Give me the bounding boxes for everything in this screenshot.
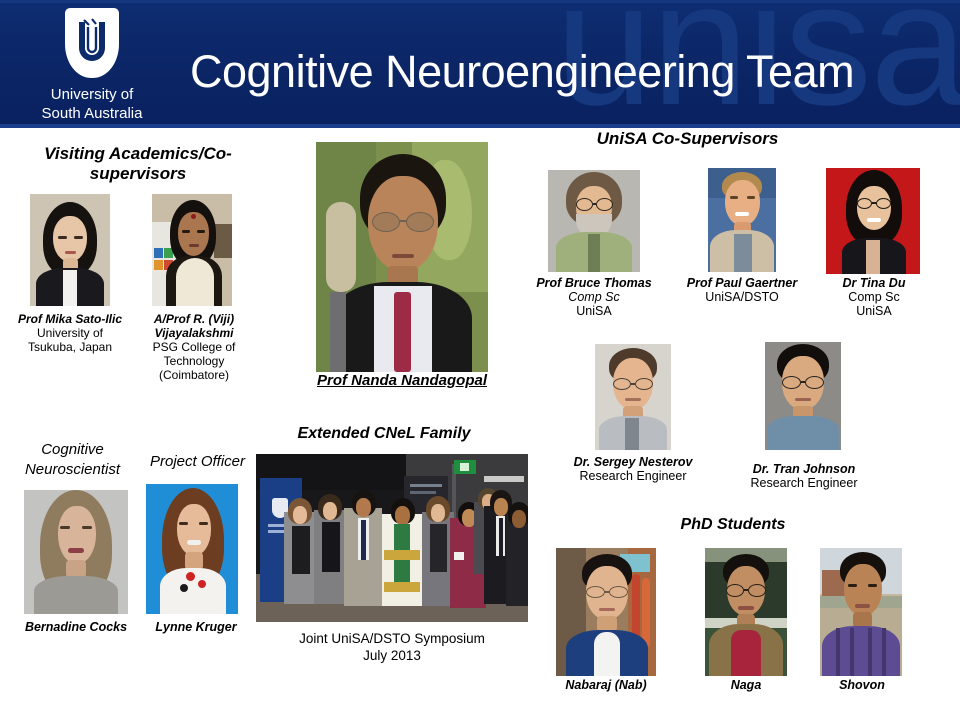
name-bernadine-cocks: Bernadine Cocks <box>10 620 142 634</box>
affil-bruce-line3: UniSA <box>524 304 664 318</box>
photo-bruce-thomas <box>548 170 640 272</box>
caption-bernadine-cocks: Bernadine Cocks <box>10 620 142 634</box>
name-nanda-nandagopal: Prof Nanda Nandagopal <box>300 374 504 388</box>
slide-canvas: unisa University of South Australia Cogn… <box>0 0 960 720</box>
logo-text: University of South Australia <box>26 85 158 123</box>
affil-paul-line2: UniSA/DSTO <box>672 290 812 304</box>
caption-paul-gaertner: Prof Paul Gaertner UniSA/DSTO <box>672 276 812 304</box>
affil-viji-line2: PSG College of <box>134 340 254 354</box>
photo-sergey-nesterov <box>595 344 671 450</box>
page-title: Cognitive Neuroengineering Team <box>190 46 890 98</box>
caption-mika-sato-ilic: Prof Mika Sato-Ilic University of Tsukub… <box>12 312 128 354</box>
name-lynne-kruger: Lynne Kruger <box>142 620 250 634</box>
caption-naga: Naga <box>700 678 792 692</box>
caption-tina-du: Dr Tina Du Comp Sc UniSA <box>818 276 930 318</box>
name-shovon: Shovon <box>816 678 908 692</box>
slide-header: unisa University of South Australia Cogn… <box>0 0 960 128</box>
affil-mika-line2: University of <box>12 326 128 340</box>
photo-paul-gaertner <box>708 168 776 272</box>
photo-group-symposium <box>256 454 528 622</box>
heading-project-officer: Project Officer <box>140 452 255 472</box>
photo-shovon <box>820 548 902 676</box>
affil-viji-line3: Technology <box>134 354 254 368</box>
heading-unisa-co-supervisors: UniSA Co-Supervisors <box>575 129 800 149</box>
caption-bruce-thomas: Prof Bruce Thomas Comp Sc UniSA <box>524 276 664 318</box>
photo-viji-vijayalakshmi <box>152 194 232 306</box>
affil-viji-line4: (Coimbatore) <box>134 368 254 382</box>
caption-shovon: Shovon <box>816 678 908 692</box>
caption-group-symposium: Joint UniSA/DSTO Symposium July 2013 <box>256 630 528 664</box>
affil-tina-line3: UniSA <box>818 304 930 318</box>
photo-bernadine-cocks <box>24 490 128 614</box>
name-paul-gaertner: Prof Paul Gaertner <box>672 276 812 290</box>
name-tina-du: Dr Tina Du <box>818 276 930 290</box>
photo-nabaraj <box>556 548 656 676</box>
heading-visiting-academics: Visiting Academics/Co-supervisors <box>18 144 258 184</box>
name-naga: Naga <box>700 678 792 692</box>
role-sergey: Research Engineer <box>572 469 694 483</box>
symposium-line-1: Joint UniSA/DSTO Symposium <box>256 630 528 647</box>
symposium-line-2: July 2013 <box>256 647 528 664</box>
caption-sergey-nesterov: Dr. Sergey Nesterov Research Engineer <box>572 455 694 483</box>
unisa-shield-icon <box>65 8 119 78</box>
heading-extended-cnel-family: Extended CNeL Family <box>268 424 500 444</box>
name-mika-sato-ilic: Prof Mika Sato-Ilic <box>12 312 128 326</box>
photo-lynne-kruger <box>146 484 238 614</box>
photo-tran-johnson <box>765 342 841 450</box>
photo-naga <box>705 548 787 676</box>
logo-line-1: University of <box>51 86 134 103</box>
role-tran: Research Engineer <box>742 476 866 490</box>
affil-mika-line3: Tsukuba, Japan <box>12 340 128 354</box>
caption-viji-vijayalakshmi: A/Prof R. (Viji) Vijayalakshmi PSG Colle… <box>134 312 254 382</box>
caption-tran-johnson: Dr. Tran Johnson Research Engineer <box>742 462 866 490</box>
header-bottom-rule <box>0 124 960 128</box>
unisa-u-glyph <box>72 18 112 68</box>
affil-tina-line2: Comp Sc <box>818 290 930 304</box>
heading-cognitive-neuroscientist: Cognitive Neuroscientist <box>10 440 135 480</box>
photo-nanda-nandagopal <box>316 142 488 372</box>
affil-bruce-line2: Comp Sc <box>524 290 664 304</box>
heading-phd-students: PhD Students <box>648 515 818 535</box>
photo-mika-sato-ilic <box>30 194 110 306</box>
unisa-logo: University of South Australia <box>26 8 158 123</box>
name-viji-vijayalakshmi: A/Prof R. (Viji) Vijayalakshmi <box>134 312 254 340</box>
photo-tina-du <box>826 168 920 274</box>
logo-line-2: South Australia <box>42 105 143 122</box>
name-bruce-thomas: Prof Bruce Thomas <box>524 276 664 290</box>
caption-nanda-nandagopal: Prof Nanda Nandagopal <box>300 374 504 388</box>
caption-nabaraj: Nabaraj (Nab) <box>548 678 664 692</box>
name-sergey-nesterov: Dr. Sergey Nesterov <box>572 455 694 469</box>
name-tran-johnson: Dr. Tran Johnson <box>742 462 866 476</box>
name-nabaraj: Nabaraj (Nab) <box>548 678 664 692</box>
caption-lynne-kruger: Lynne Kruger <box>142 620 250 634</box>
